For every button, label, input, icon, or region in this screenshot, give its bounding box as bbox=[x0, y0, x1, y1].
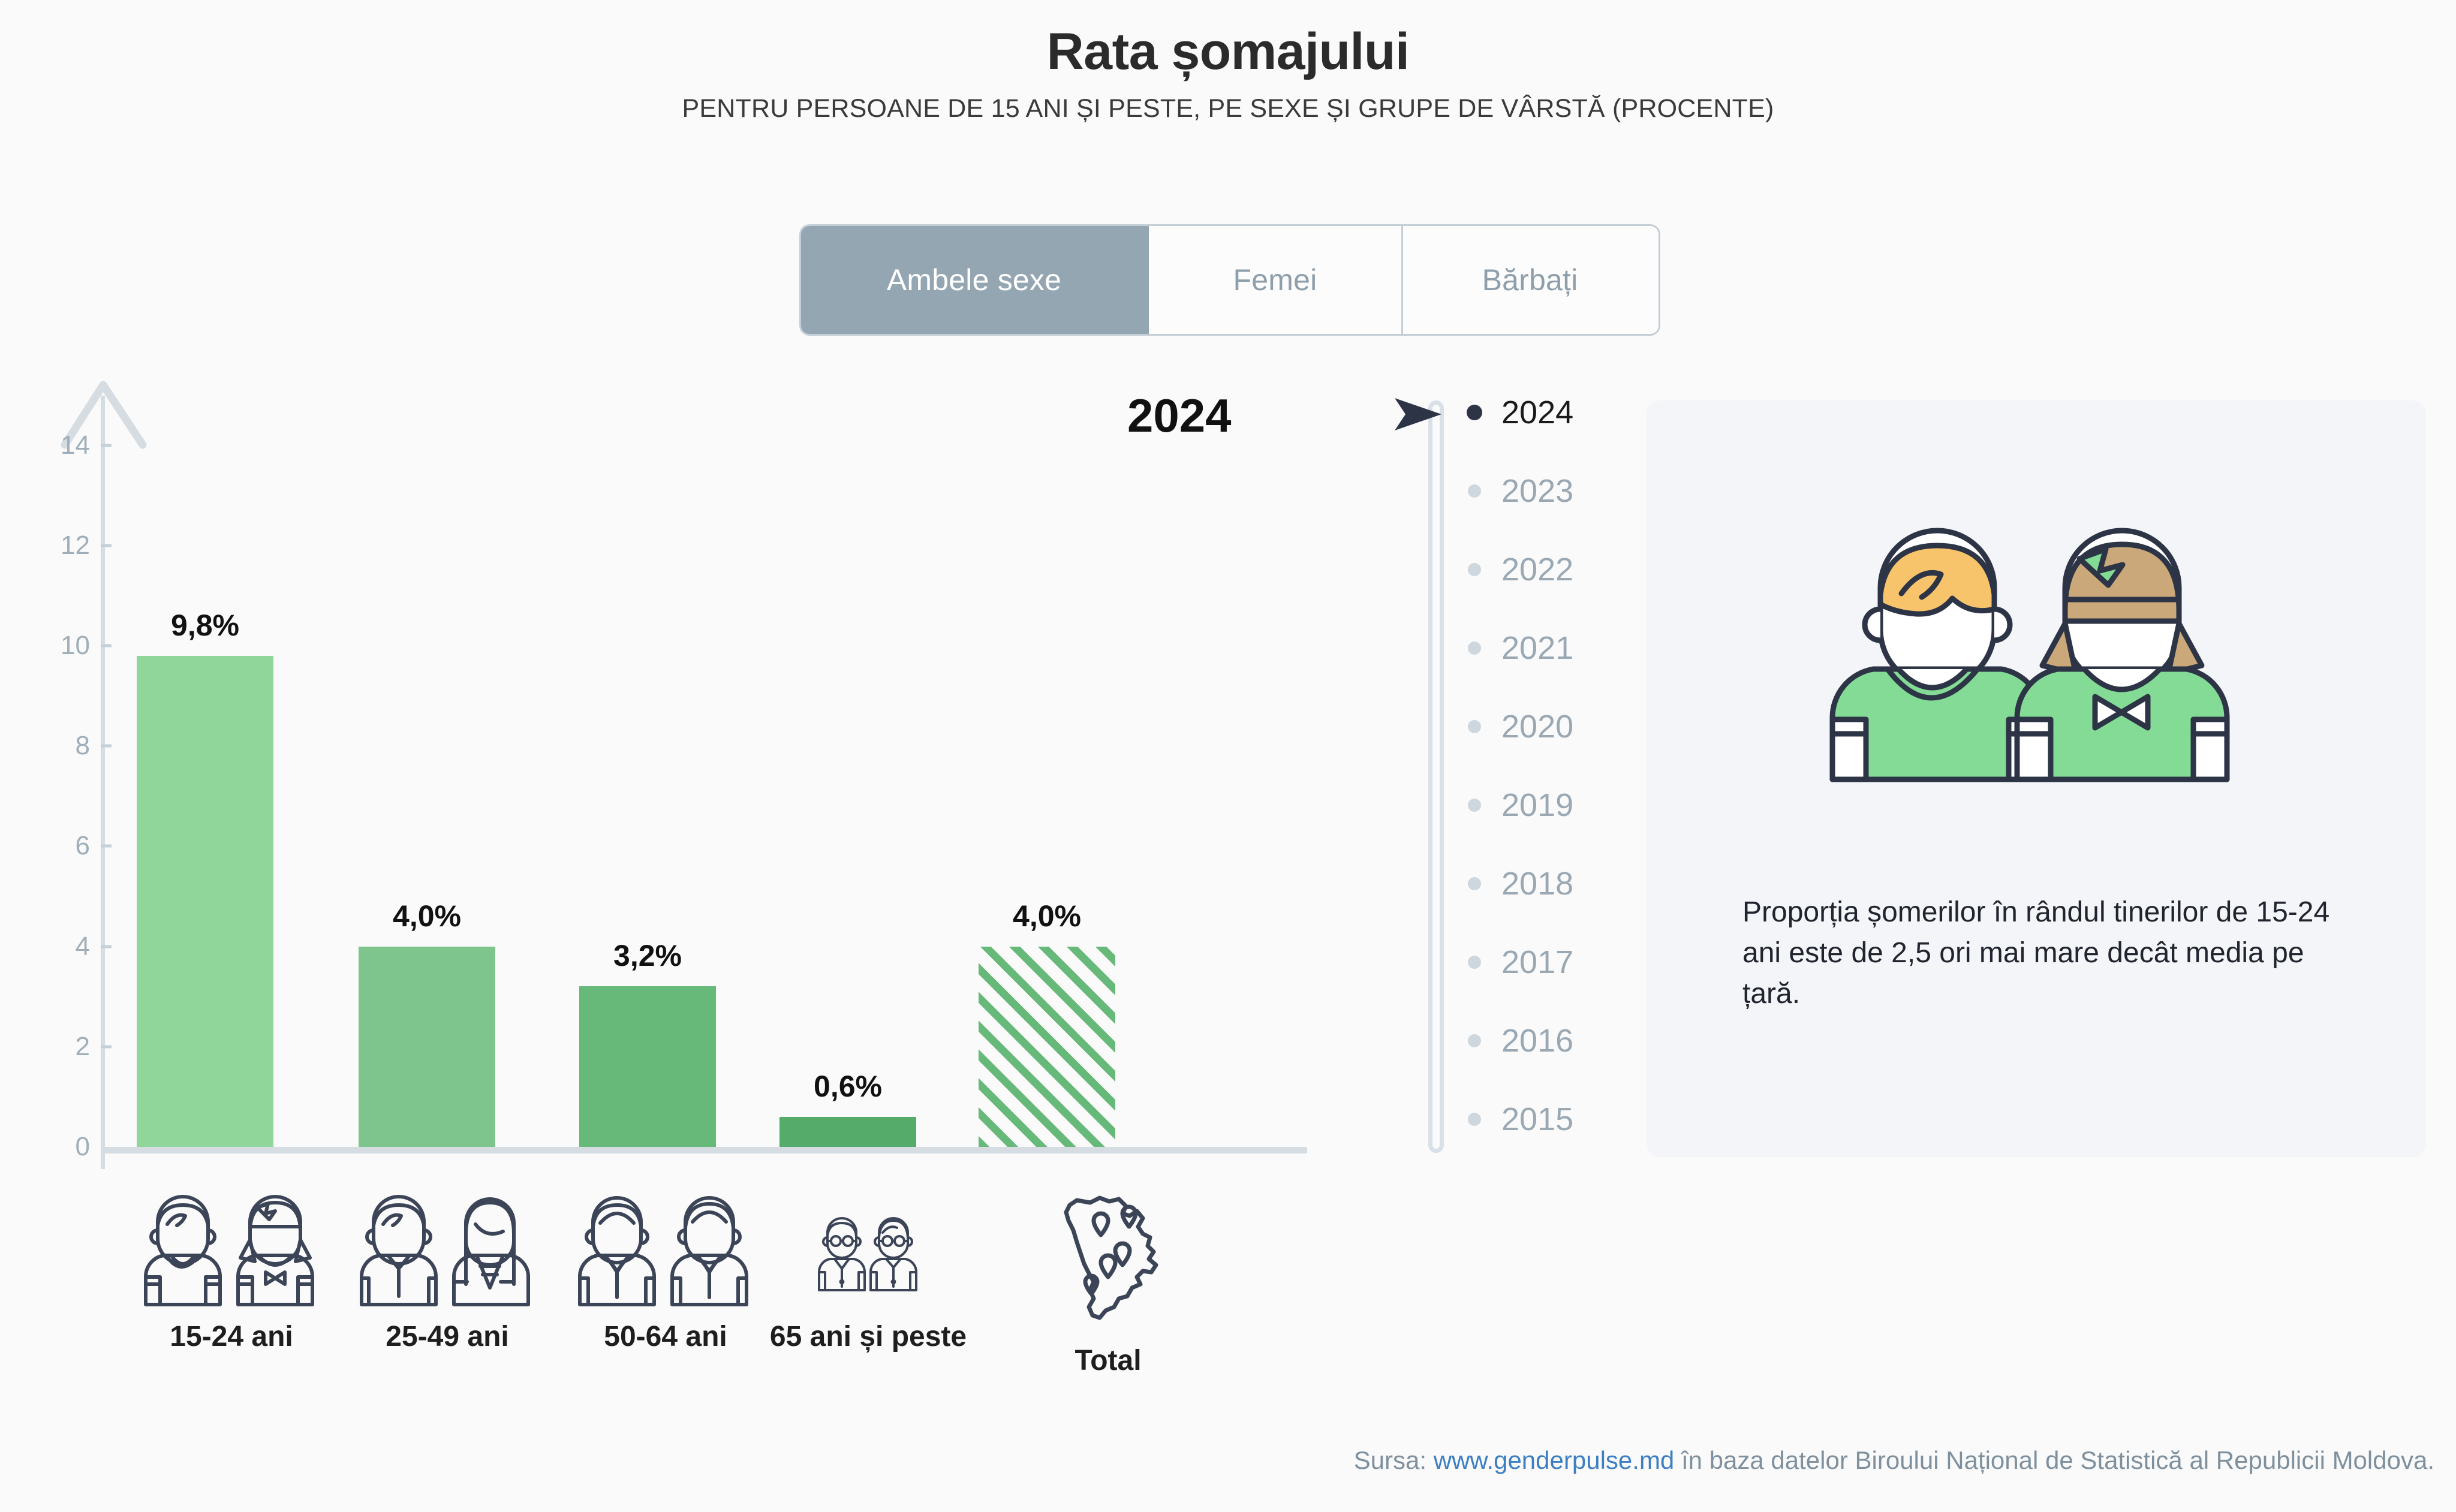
timeline-year-2019[interactable]: 2019 bbox=[1391, 788, 1619, 822]
bar-group[interactable]: 4,0% bbox=[359, 881, 495, 1147]
info-card: Proporția șomerilor în rândul tinerilor … bbox=[1647, 400, 2426, 1157]
category-total: Total bbox=[977, 1187, 1239, 1377]
bar-value-label: 9,8% bbox=[171, 608, 239, 643]
two-mature-adults-icon bbox=[567, 1187, 765, 1307]
timeline-dot bbox=[1468, 484, 1481, 498]
year-timeline: 2024202320222021202020192018201720162015 bbox=[1391, 384, 1619, 1175]
timeline-year-label: 2016 bbox=[1501, 1022, 1573, 1059]
source-link[interactable]: www.genderpulse.md bbox=[1434, 1446, 1675, 1474]
y-tick-4: 4 bbox=[0, 932, 90, 962]
timeline-dot bbox=[1468, 956, 1481, 969]
bar-5[interactable] bbox=[979, 947, 1115, 1147]
y-tick-0: 0 bbox=[0, 1132, 90, 1162]
timeline-year-label: 2021 bbox=[1501, 630, 1573, 667]
young-couple-illustration bbox=[1808, 504, 2264, 875]
bar-value-label: 4,0% bbox=[1013, 899, 1081, 933]
two-elderly-people-icon bbox=[814, 1187, 922, 1307]
y-tick-12: 12 bbox=[0, 531, 90, 561]
timeline-year-2017[interactable]: 2017 bbox=[1391, 945, 1619, 979]
tab-barbati[interactable]: Bărbați bbox=[1403, 226, 1657, 334]
timeline-year-2021[interactable]: 2021 bbox=[1391, 631, 1619, 665]
info-card-text: Proporția șomerilor în rândul tinerilor … bbox=[1742, 892, 2348, 1014]
bar-2[interactable] bbox=[359, 947, 495, 1147]
y-tick-10: 10 bbox=[0, 631, 90, 661]
timeline-dot bbox=[1467, 405, 1482, 420]
source-suffix: în baza datelor Biroului Național de Sta… bbox=[1674, 1446, 2434, 1474]
bar-group[interactable]: 0,6% bbox=[779, 1051, 916, 1147]
timeline-dot bbox=[1468, 1113, 1481, 1126]
bar-series: 9,8%4,0%3,2%0,6%4,0% bbox=[101, 378, 1307, 1153]
timeline-year-2024[interactable]: 2024 bbox=[1391, 396, 1619, 429]
page-header: Rata șomajului PENTRU PERSOANE DE 15 ANI… bbox=[0, 24, 2456, 124]
timeline-dot bbox=[1468, 877, 1481, 890]
y-tick-2: 2 bbox=[0, 1032, 90, 1062]
tab-ambele-sexe[interactable]: Ambele sexe bbox=[801, 226, 1149, 334]
timeline-year-2018[interactable]: 2018 bbox=[1391, 867, 1619, 900]
timeline-year-label: 2018 bbox=[1501, 865, 1573, 902]
chart-year-label: 2024 bbox=[1127, 388, 1232, 443]
two-adults-icon bbox=[348, 1187, 546, 1307]
timeline-year-label: 2020 bbox=[1501, 708, 1573, 745]
category-65-plus: 65 ani și peste bbox=[738, 1187, 999, 1353]
bar-4[interactable] bbox=[779, 1117, 916, 1147]
timeline-dot bbox=[1468, 563, 1481, 576]
timeline-dot bbox=[1468, 1034, 1481, 1047]
tab-femei[interactable]: Femei bbox=[1149, 226, 1403, 334]
bar-group[interactable]: 3,2% bbox=[579, 920, 716, 1147]
timeline-year-2016[interactable]: 2016 bbox=[1391, 1024, 1619, 1058]
bar-value-label: 4,0% bbox=[393, 899, 461, 933]
bar-group[interactable]: 4,0% bbox=[979, 881, 1115, 1147]
sex-filter-tabs: Ambele sexe Femei Bărbați bbox=[801, 226, 1659, 334]
y-tick-8: 8 bbox=[0, 731, 90, 761]
timeline-year-label: 2022 bbox=[1501, 551, 1573, 588]
timeline-year-2015[interactable]: 2015 bbox=[1391, 1103, 1619, 1136]
timeline-year-label: 2019 bbox=[1501, 787, 1573, 824]
page-subtitle: PENTRU PERSOANE DE 15 ANI ȘI PESTE, PE S… bbox=[0, 94, 2456, 124]
timeline-year-2022[interactable]: 2022 bbox=[1391, 553, 1619, 586]
bar-value-label: 0,6% bbox=[814, 1069, 882, 1104]
timeline-dot bbox=[1468, 641, 1481, 655]
bar-3[interactable] bbox=[579, 986, 716, 1147]
source-prefix: Sursa: bbox=[1354, 1446, 1434, 1474]
timeline-year-label: 2017 bbox=[1501, 944, 1573, 981]
timeline-year-label: 2024 bbox=[1501, 394, 1573, 431]
category-label: Total bbox=[977, 1344, 1239, 1377]
moldova-map-icon bbox=[1042, 1187, 1174, 1331]
bar-value-label: 3,2% bbox=[613, 938, 682, 973]
timeline-dot bbox=[1468, 720, 1481, 733]
category-axis: 15-24 ani bbox=[101, 1187, 1307, 1439]
timeline-year-label: 2023 bbox=[1501, 472, 1573, 510]
bar-group[interactable]: 9,8% bbox=[137, 590, 273, 1147]
timeline-year-label: 2015 bbox=[1501, 1101, 1573, 1138]
category-label: 65 ani și peste bbox=[738, 1320, 999, 1353]
timeline-year-2023[interactable]: 2023 bbox=[1391, 474, 1619, 508]
bar-chart: 02468101214 9,8%4,0%3,2%0,6%4,0% bbox=[0, 378, 1325, 1175]
y-tick-6: 6 bbox=[0, 831, 90, 861]
bar-1[interactable] bbox=[137, 656, 273, 1147]
two-teenagers-icon bbox=[133, 1187, 330, 1307]
timeline-year-2020[interactable]: 2020 bbox=[1391, 710, 1619, 743]
timeline-dot bbox=[1468, 799, 1481, 812]
y-tick-14: 14 bbox=[0, 430, 90, 460]
page-title: Rata șomajului bbox=[0, 24, 2456, 80]
source-footer: Sursa: www.genderpulse.md în baza datelo… bbox=[0, 1446, 2434, 1475]
